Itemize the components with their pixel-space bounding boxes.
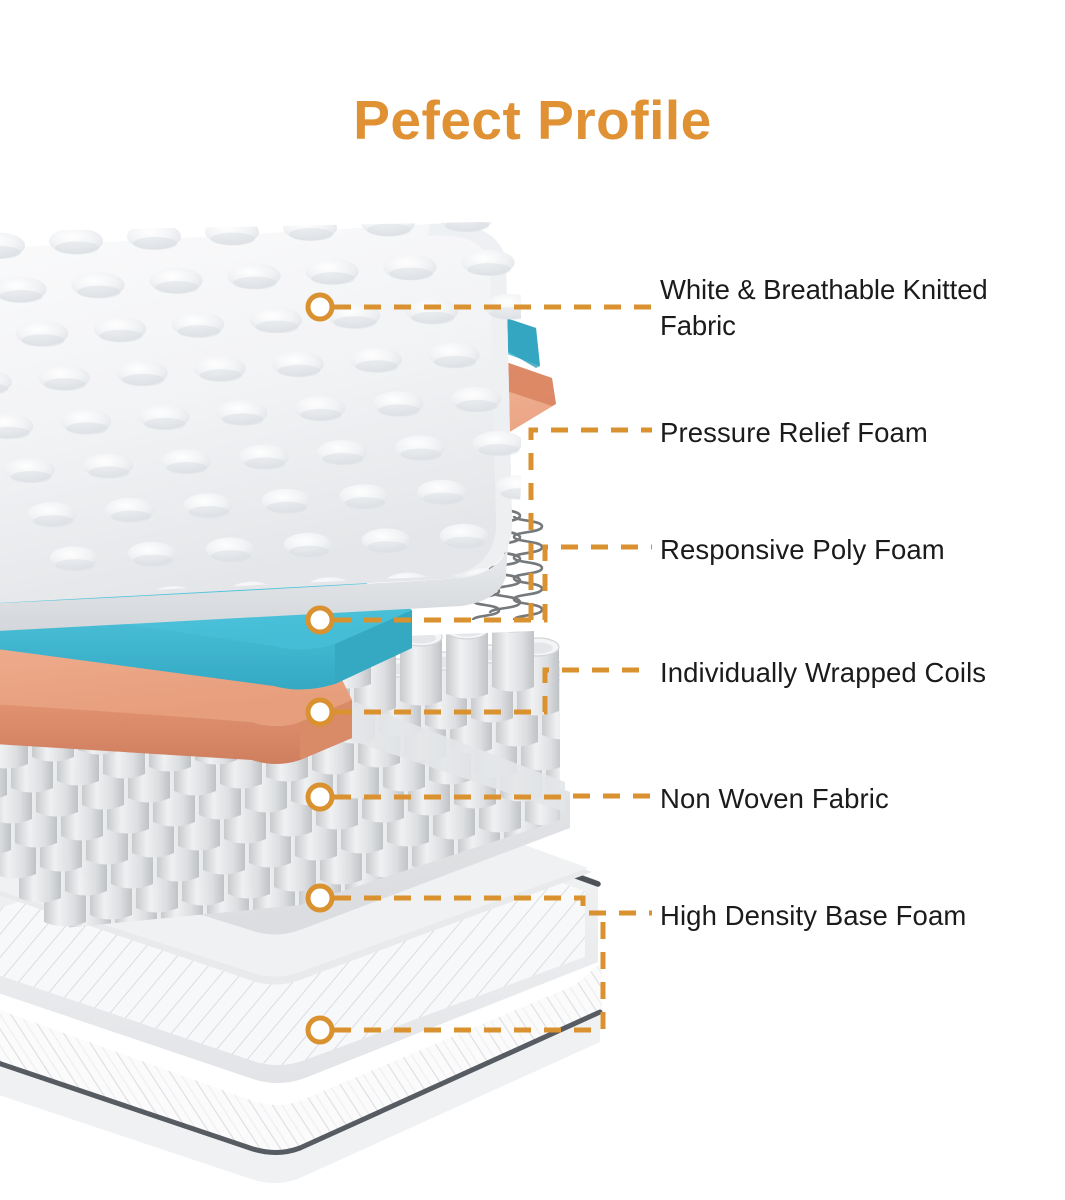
callout-marker-0[interactable] xyxy=(308,295,332,319)
mattress-illustration xyxy=(0,0,1065,1200)
callout-label-base-foam: High Density Base Foam xyxy=(660,898,1065,934)
callout-label-knitted-fabric: White & Breathable Knitted Fabric xyxy=(660,272,1065,344)
layer-knitted-fabric xyxy=(0,206,545,633)
callout-label-non-woven-fabric: Non Woven Fabric xyxy=(660,781,1065,817)
callout-marker-5[interactable] xyxy=(308,886,332,910)
callout-label-pressure-relief-foam: Pressure Relief Foam xyxy=(660,415,1065,451)
callout-marker-4[interactable] xyxy=(308,785,332,809)
callout-label-line: Fabric xyxy=(660,308,1065,344)
callout-label-responsive-poly-foam: Responsive Poly Foam xyxy=(660,532,1065,568)
diagram-page: Pefect Profile xyxy=(0,0,1065,1200)
callout-marker-6[interactable] xyxy=(308,1018,332,1042)
callout-label-wrapped-coils: Individually Wrapped Coils xyxy=(660,655,1065,691)
callout-marker-3[interactable] xyxy=(308,700,332,724)
callout-marker-2[interactable] xyxy=(308,608,332,632)
callout-label-line: White & Breathable Knitted xyxy=(660,272,1065,308)
